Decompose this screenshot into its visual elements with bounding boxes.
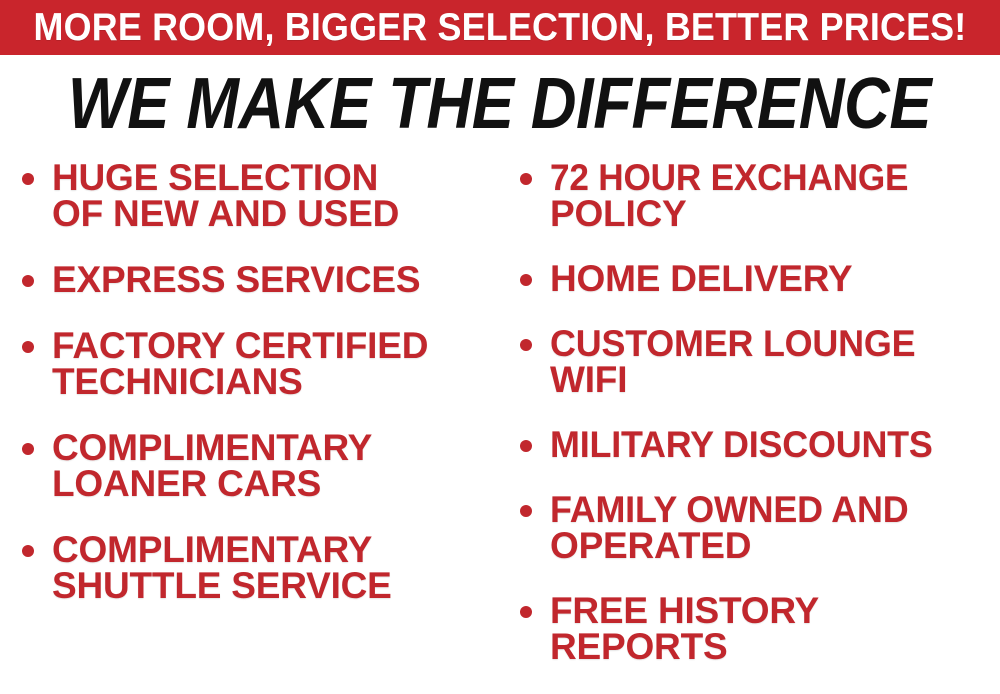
list-item-line1: FAMILY OWNED AND [550,492,908,528]
list-item-line2: TECHNICIANS [52,364,500,400]
list-item-line1: COMPLIMENTARY [52,430,500,466]
list-item: FAMILY OWNED AND OPERATED [512,492,1000,564]
list-item: MILITARY DISCOUNTS [512,427,1000,463]
main-headline: WE MAKE THE DIFFERENCE [0,68,1000,140]
top-ribbon: MORE ROOM, BIGGER SELECTION, BETTER PRIC… [0,0,1000,55]
list-item: COMPLIMENTARY SHUTTLE SERVICE [14,532,500,604]
list-item-line1: COMPLIMENTARY [52,532,500,568]
main-headline-text: WE MAKE THE DIFFERENCE [68,68,931,140]
list-item-line1: HOME DELIVERY [550,261,1000,297]
promotional-banner: MORE ROOM, BIGGER SELECTION, BETTER PRIC… [0,0,1000,694]
list-item-line1: 72 HOUR EXCHANGE [550,160,908,196]
bullet-dot-icon [22,443,34,455]
list-item: COMPLIMENTARY LOANER CARS [14,430,500,502]
list-item-line1: FACTORY CERTIFIED [52,328,500,364]
bullet-dot-icon [520,173,532,185]
list-item-line2: OPERATED [550,528,1000,564]
feature-column-right: 72 HOUR EXCHANGE POLICY HOME DELIVERY CU… [512,160,1000,694]
bullet-dot-icon [520,339,532,351]
bullet-dot-icon [520,440,532,452]
list-item: FREE HISTORY REPORTS [512,593,1000,665]
feature-columns: HUGE SELECTION OF NEW AND USED EXPRESS S… [0,160,1000,694]
ribbon-headline-text: MORE ROOM, BIGGER SELECTION, BETTER PRIC… [34,8,967,47]
bullet-dot-icon [22,173,34,185]
list-item-line1: CUSTOMER LOUNGE [550,326,915,362]
list-item: 72 HOUR EXCHANGE POLICY [512,160,1000,232]
list-item-line2: POLICY [550,196,1000,232]
bullet-dot-icon [520,505,532,517]
list-item-line2: OF NEW AND USED [52,196,500,232]
bullet-dot-icon [22,341,34,353]
bullet-dot-icon [22,275,34,287]
bullet-dot-icon [22,545,34,557]
list-item-line1: MILITARY DISCOUNTS [550,427,933,463]
list-item: CUSTOMER LOUNGE WIFI [512,326,1000,398]
list-item-line2: SHUTTLE SERVICE [52,568,500,604]
list-item-line1: EXPRESS SERVICES [52,262,500,298]
feature-column-left: HUGE SELECTION OF NEW AND USED EXPRESS S… [14,160,500,634]
list-item: HUGE SELECTION OF NEW AND USED [14,160,500,232]
list-item: FACTORY CERTIFIED TECHNICIANS [14,328,500,400]
list-item-line2: REPORTS [550,629,1000,665]
bullet-dot-icon [520,274,532,286]
list-item-line1: HUGE SELECTION [52,160,500,196]
list-item: EXPRESS SERVICES [14,262,500,298]
bullet-dot-icon [520,606,532,618]
list-item: HOME DELIVERY [512,261,1000,297]
list-item-line1: FREE HISTORY [550,593,1000,629]
list-item-line2: LOANER CARS [52,466,500,502]
list-item-line2: WIFI [550,362,1000,398]
